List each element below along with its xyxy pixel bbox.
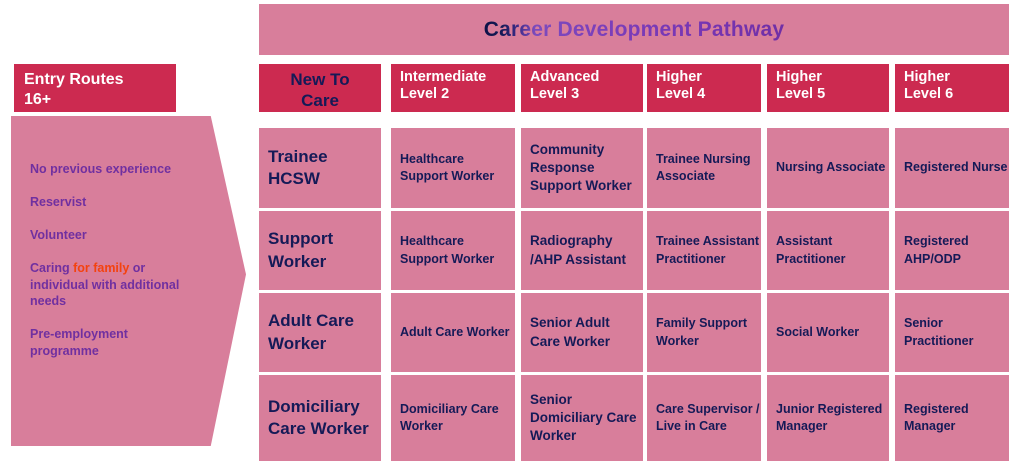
entry-routes-header: Entry Routes 16+ [14,64,176,112]
pathway-column-intermediate-level-2: Intermediate Level 2 Healthcare Support … [391,64,515,464]
entry-route-item: No previous experience [30,161,200,178]
entry-route-item: Pre-employment programme [30,326,200,360]
column-header-line1: Higher [776,69,889,86]
column-header-new-to-care: New To Care [259,64,381,112]
pathway-cell[interactable]: Senior Domiciliary Care Worker [521,375,643,461]
entry-route-accent-text: for family [73,261,129,275]
pathway-cell[interactable]: Senior Adult Care Worker [521,293,643,372]
column-header-higher-level-6: Higher Level 6 [895,64,1009,112]
column-header-line2: Level 3 [530,86,643,103]
column-header-higher-level-5: Higher Level 5 [767,64,889,112]
pathway-column-higher-level-4: Higher Level 4 Trainee Nursing Associate… [647,64,761,464]
entry-route-text: No previous experience [30,162,171,176]
pathway-cell[interactable]: Social Worker [767,293,889,372]
column-header-line2: Level 6 [904,86,1009,103]
career-pathway-title-banner: Career Development Pathway [259,4,1009,55]
pathway-cell[interactable]: Radiography /AHP Assistant [521,211,643,290]
pathway-column-higher-level-5: Higher Level 5 Nursing Associate Assista… [767,64,889,464]
pathway-column-advanced-level-3: Advanced Level 3 Community Response Supp… [521,64,643,464]
column-header-advanced-level-3: Advanced Level 3 [521,64,643,112]
pathway-column-new-to-care: New To Care Trainee HCSW Support Worker … [259,64,381,464]
pathway-cell[interactable]: Assistant Practitioner [767,211,889,290]
pathway-cell[interactable]: Registered Manager [895,375,1009,461]
pathway-cell[interactable]: Adult Care Worker [391,293,515,372]
entry-route-text: Volunteer [30,228,87,242]
pathway-cell[interactable]: Family Support Worker [647,293,761,372]
pathway-cell[interactable]: Trainee Nursing Associate [647,128,761,208]
column-header-line2: Care [259,91,381,111]
pathway-cell[interactable]: Trainee Assistant Practitioner [647,211,761,290]
pathway-cell[interactable]: Registered Nurse [895,128,1009,208]
column-header-intermediate-level-2: Intermediate Level 2 [391,64,515,112]
pathway-cell[interactable]: Senior Practitioner [895,293,1009,372]
entry-route-item: Reservist [30,194,200,211]
column-header-line2: Level 4 [656,86,761,103]
entry-route-text: Reservist [30,195,86,209]
pathway-cell[interactable]: Care Supervisor / Live in Care [647,375,761,461]
pathway-cell[interactable]: Registered AHP/ODP [895,211,1009,290]
entry-routes-list: No previous experienceReservistVolunteer… [30,161,200,360]
entry-route-text: Pre-employment programme [30,327,128,358]
pathway-cell[interactable]: Nursing Associate [767,128,889,208]
pathway-cell[interactable]: Domiciliary Care Worker [259,375,381,461]
pathway-cell[interactable]: Healthcare Support Worker [391,211,515,290]
pathway-cell[interactable]: Community Response Support Worker [521,128,643,208]
pathway-column-higher-level-6: Higher Level 6 Registered Nurse Register… [895,64,1009,464]
page-title: Career Development Pathway [484,18,784,42]
entry-route-item: Caring for family or individual with add… [30,260,200,311]
column-header-line1: New To [259,70,381,90]
column-header-line1: Higher [656,69,761,86]
pathway-cell[interactable]: Support Worker [259,211,381,290]
entry-route-item: Volunteer [30,227,200,244]
pathway-cell[interactable]: Adult Care Worker [259,293,381,372]
column-header-higher-level-4: Higher Level 4 [647,64,761,112]
entry-routes-header-line2: 16+ [24,90,176,110]
column-header-line1: Higher [904,69,1009,86]
column-header-line1: Intermediate [400,69,515,86]
pathway-cell[interactable]: Healthcare Support Worker [391,128,515,208]
entry-routes-header-line1: Entry Routes [24,70,176,90]
column-header-line2: Level 2 [400,86,515,103]
entry-route-text: Caring [30,261,73,275]
pathway-cell[interactable]: Junior Registered Manager [767,375,889,461]
column-header-line1: Advanced [530,69,643,86]
entry-routes-panel: No previous experienceReservistVolunteer… [11,116,246,446]
pathway-cell[interactable]: Trainee HCSW [259,128,381,208]
pathway-cell[interactable]: Domiciliary Care Worker [391,375,515,461]
column-header-line2: Level 5 [776,86,889,103]
